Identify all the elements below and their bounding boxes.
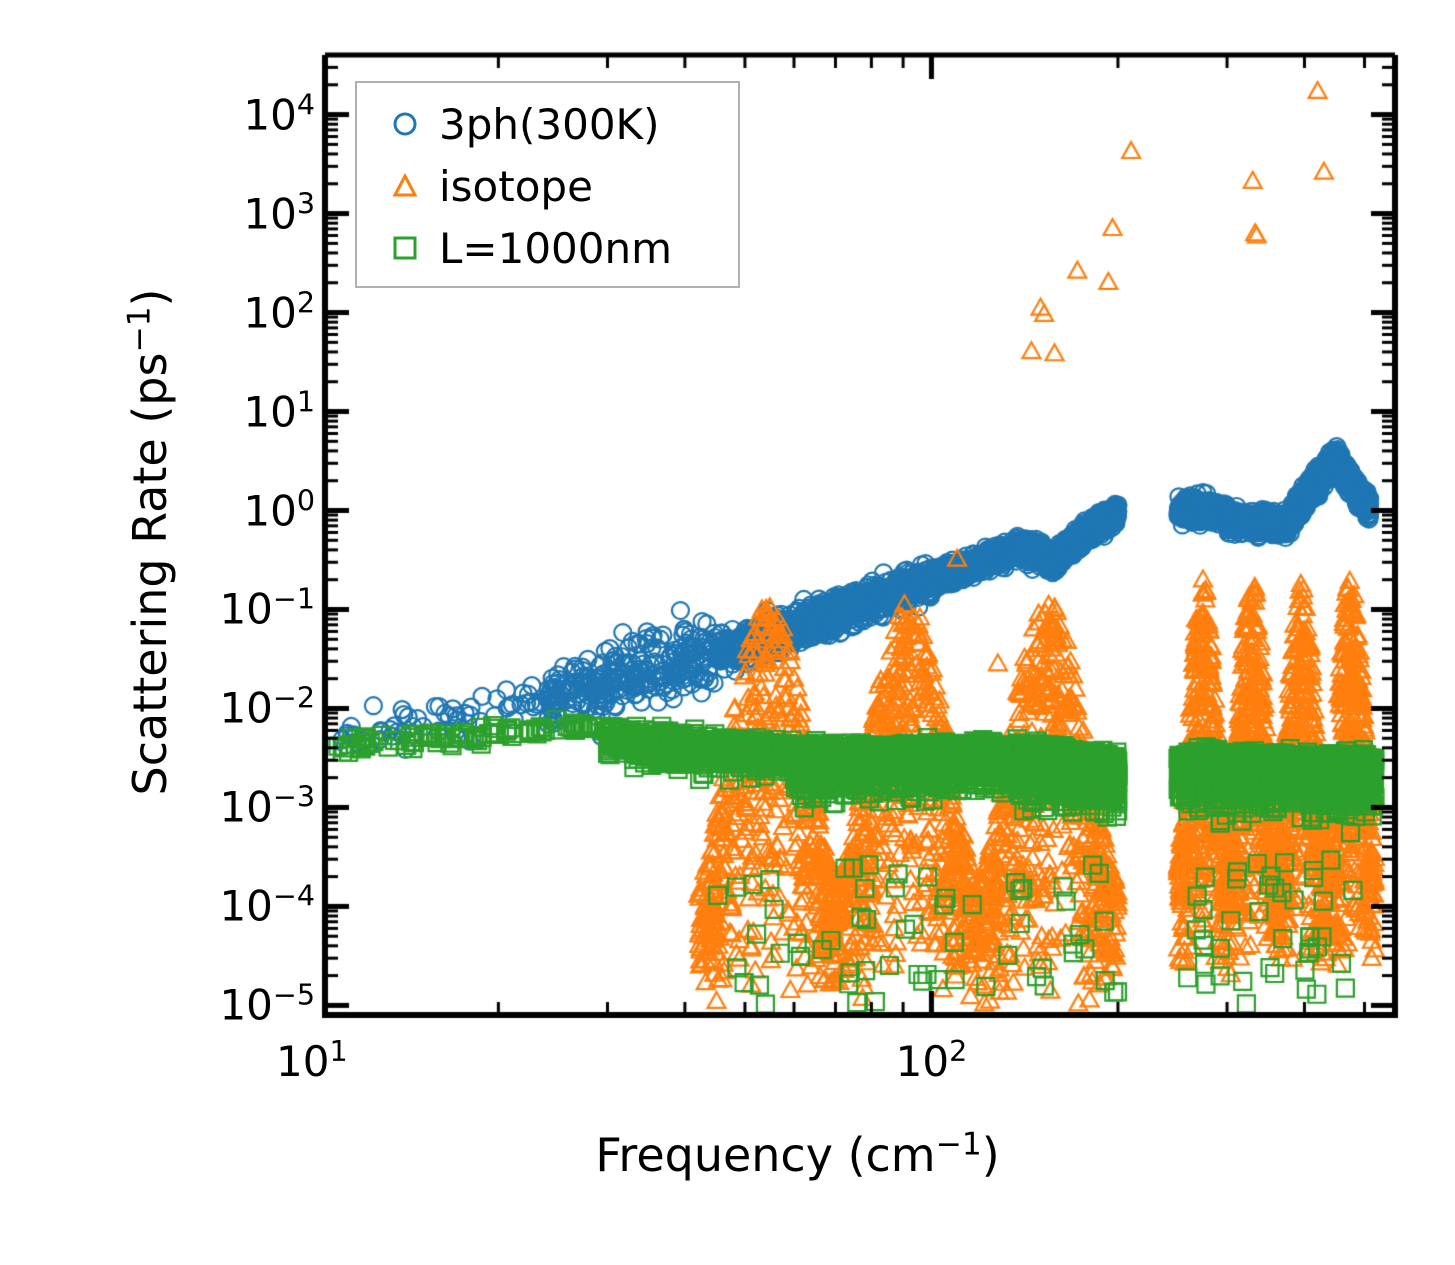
triangle-marker-icon [379,173,431,199]
legend-entry-2[interactable]: L=1000nm [357,217,738,279]
legend-entry-0[interactable]: 3ph(300K) [357,93,738,155]
y-tick-label-3: 101 [243,387,315,436]
y-tick-label-4: 100 [243,486,315,535]
legend-entry-1[interactable]: isotope [357,155,738,217]
x-axis-label: Frequency (cm−1) [0,1128,1455,1182]
y-tick-label-8: 10−4 [219,882,315,931]
x-tick-label-0: 101 [276,1037,348,1086]
x-tick-label-1: 102 [896,1037,968,1086]
legend-label: L=1000nm [439,224,672,273]
y-tick-label-0: 104 [243,90,315,139]
circle-marker-icon [379,111,431,137]
y-tick-label-2: 102 [243,288,315,337]
y-axis-label: Scattering Rate (ps−1) [123,62,177,1022]
y-tick-label-5: 10−1 [219,585,315,634]
y-tick-label-7: 10−3 [219,783,315,832]
legend-label: 3ph(300K) [439,100,659,149]
legend-label: isotope [439,162,593,211]
square-marker-icon [379,235,431,261]
legend-box: 3ph(300K)isotopeL=1000nm [355,81,740,288]
y-tick-label-6: 10−2 [219,684,315,733]
y-tick-label-9: 10−5 [219,981,315,1030]
y-tick-label-1: 103 [243,189,315,238]
scatter-plot-figure: 10410310210110010−110−210−310−410−5 1011… [0,0,1455,1265]
